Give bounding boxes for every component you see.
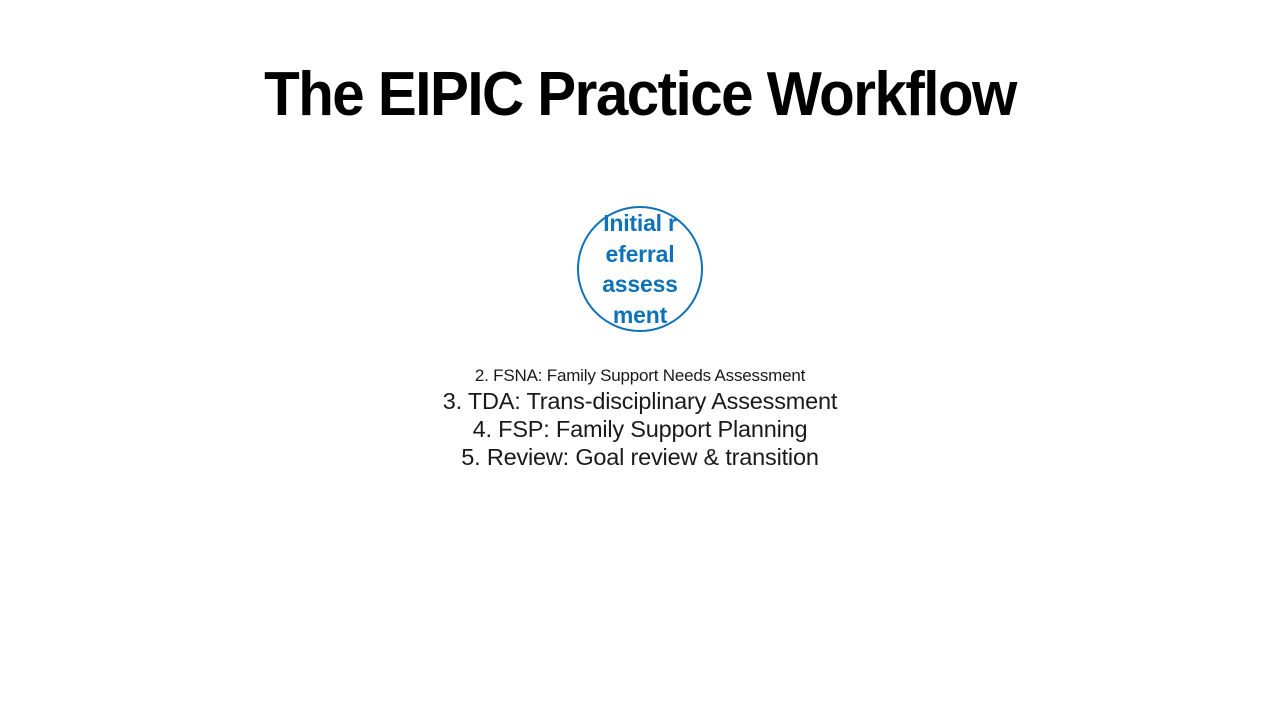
page-title: The EIPIC Practice Workflow (38, 58, 1241, 132)
list-item: 4. FSP: Family Support Planning (0, 415, 1280, 443)
workflow-node-label: Initial referral assessment (598, 208, 682, 330)
workflow-node-initial-referral[interactable]: Initial referral assessment (577, 206, 703, 332)
list-item: 5. Review: Goal review & transition (0, 443, 1280, 471)
list-item: 2. FSNA: Family Support Needs Assessment (0, 365, 1280, 387)
workflow-step-list: 2. FSNA: Family Support Needs Assessment… (0, 365, 1280, 471)
list-item: 3. TDA: Trans-disciplinary Assessment (0, 387, 1280, 415)
slide-canvas: The EIPIC Practice Workflow Initial refe… (0, 0, 1280, 720)
